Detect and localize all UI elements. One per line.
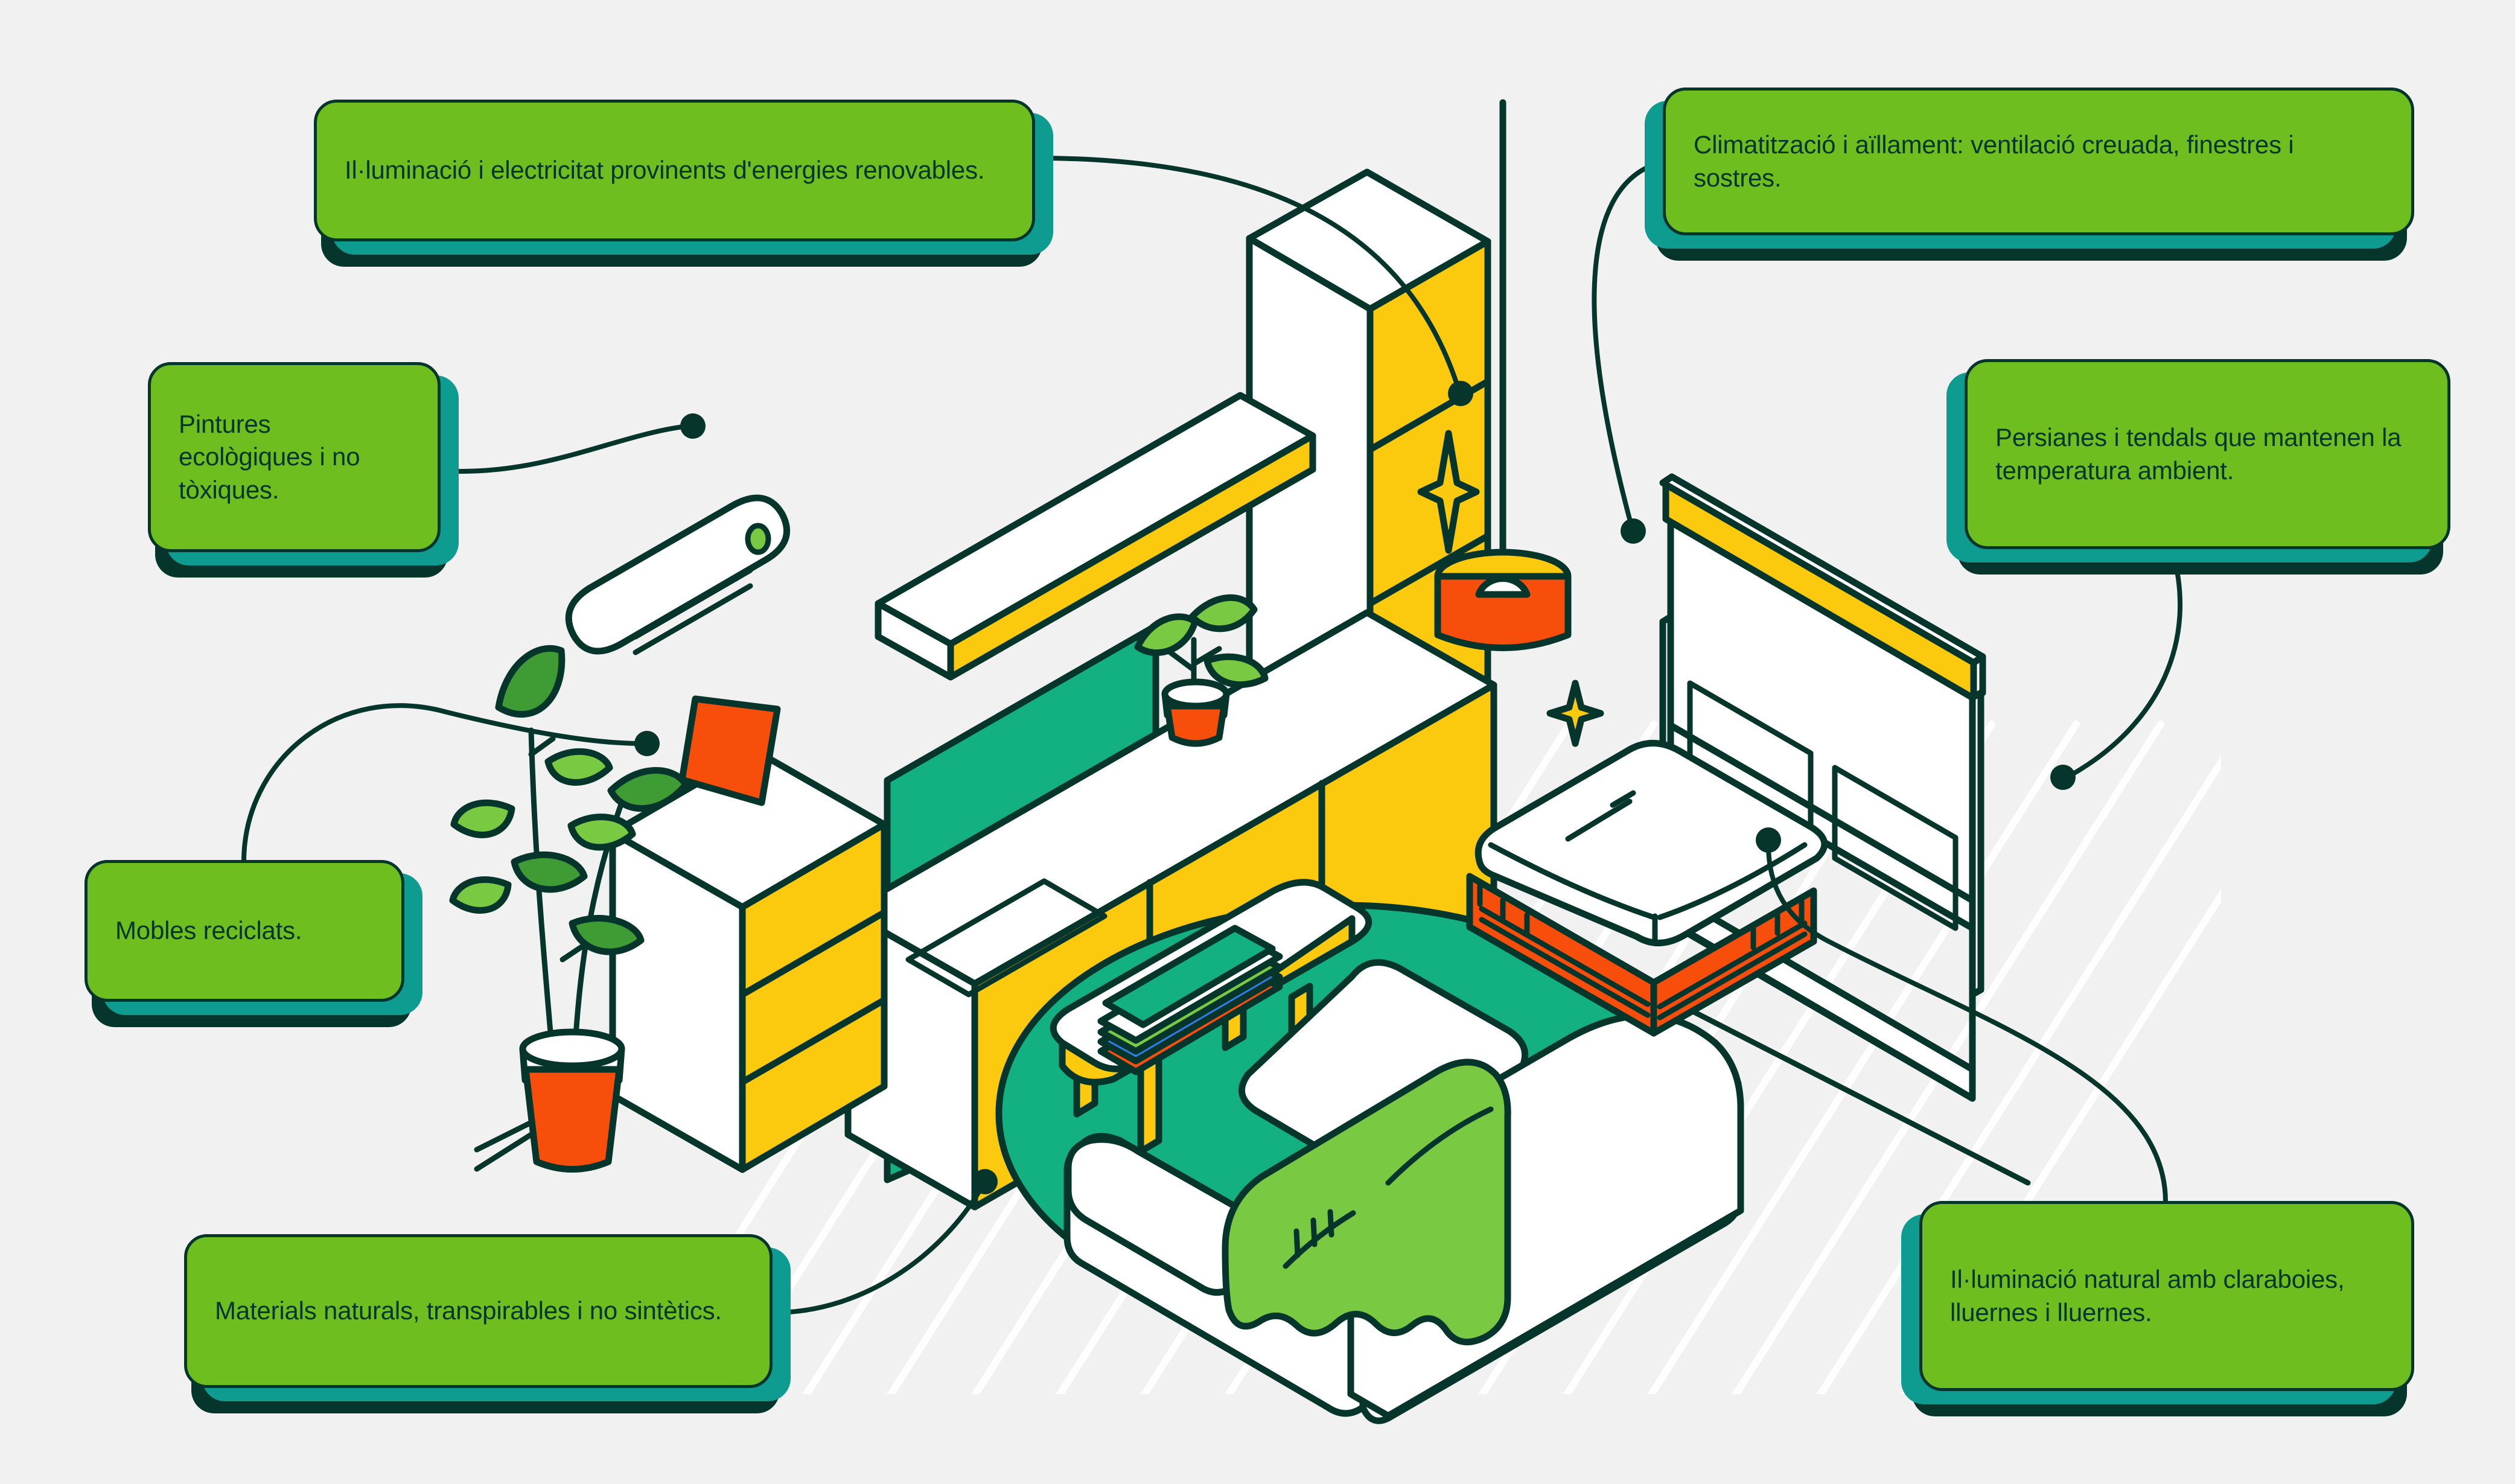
callout-text: Persianes i tendals que mantenen la temp…: [1968, 421, 2447, 487]
callout-natural-materials[interactable]: Materials naturals, transpirables i no s…: [184, 1234, 773, 1388]
leader-dot-natural-materials: [972, 1169, 998, 1194]
callout-blinds-awnings[interactable]: Persianes i tendals que mantenen la temp…: [1965, 359, 2450, 549]
leader-dot-climate: [1621, 518, 1646, 544]
air-conditioner: [569, 498, 786, 652]
callout-text: Materials naturals, transpirables i no s…: [187, 1295, 770, 1328]
callout-text: Pintures ecològiques i no tòxiques.: [151, 408, 438, 507]
pendant-lamp: [1438, 552, 1568, 648]
callout-recycled-furniture[interactable]: Mobles reciclats.: [84, 860, 404, 1002]
infographic-canvas: .ln{stroke:#06352c;stroke-width:11;strok…: [0, 0, 2515, 1484]
framed-picture: [682, 699, 777, 803]
leader-dot-eco-paints: [680, 413, 706, 439]
leader-dot-recycled-furniture: [634, 731, 660, 756]
callout-face: Il·luminació natural amb claraboies, llu…: [1919, 1201, 2414, 1391]
callout-text: Il·luminació i electricitat provinents d…: [317, 154, 1032, 187]
leader-natural-materials: [774, 1189, 981, 1313]
callout-face: Climatització i aïllament: ventilació cr…: [1663, 88, 2414, 235]
callout-face: Persianes i tendals que mantenen la temp…: [1965, 359, 2450, 549]
callout-text: Mobles reciclats.: [88, 914, 401, 947]
callout-face: Materials naturals, transpirables i no s…: [184, 1234, 773, 1388]
callout-natural-light[interactable]: Il·luminació natural amb claraboies, llu…: [1919, 1201, 2414, 1391]
leader-eco-paints: [442, 426, 688, 471]
sparkle-star-small: [1550, 683, 1601, 744]
leader-dot-blinds: [2050, 765, 2076, 790]
callout-renewable-energy[interactable]: Il·luminació i electricitat provinents d…: [314, 100, 1035, 241]
callout-climate-insulation[interactable]: Climatització i aïllament: ventilació cr…: [1663, 88, 2414, 235]
callout-text: Climatització i aïllament: ventilació cr…: [1666, 129, 2411, 194]
sideboard-drawers: [613, 750, 884, 1170]
leader-dot-renewable-energy: [1448, 381, 1473, 406]
callout-eco-paints[interactable]: Pintures ecològiques i no tòxiques.: [148, 362, 441, 552]
callout-text: Il·luminació natural amb claraboies, llu…: [1922, 1263, 2411, 1329]
leader-blinds: [2070, 552, 2180, 775]
leader-dot-natural-light: [1756, 827, 1781, 853]
callout-face: Il·luminació i electricitat provinents d…: [314, 100, 1035, 241]
callout-face: Pintures ecològiques i no tòxiques.: [148, 362, 441, 552]
callout-face: Mobles reciclats.: [84, 860, 404, 1002]
